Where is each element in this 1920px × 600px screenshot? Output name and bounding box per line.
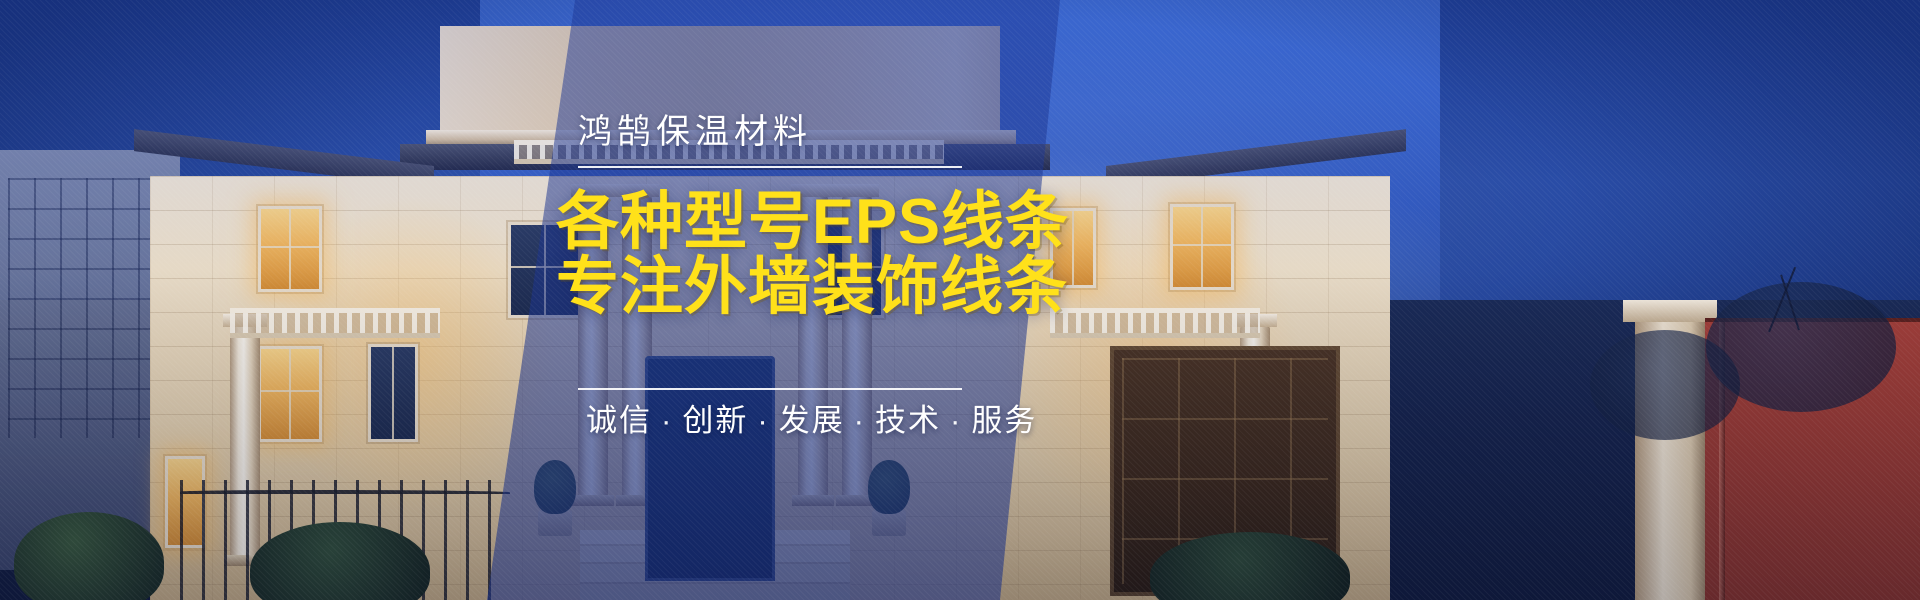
- tagline-item-5: 服务: [971, 403, 1037, 438]
- tagline-item-2: 创新: [682, 403, 748, 438]
- tagline-item-4: 技术: [875, 403, 941, 438]
- headline-line-1: 各种型号EPS线条: [556, 190, 1069, 256]
- divider-top: [578, 166, 962, 168]
- tagline-separator: ·: [757, 403, 769, 438]
- tagline-separator: ·: [854, 403, 866, 438]
- tagline-item-3: 发展: [779, 403, 845, 438]
- tagline-separator: ·: [661, 403, 673, 438]
- tagline-separator: ·: [950, 403, 962, 438]
- hero-banner: 鸿鹄保温材料 各种型号EPS线条 专注外墙装饰线条 诚信·创新·发展·技术·服务: [0, 0, 1920, 600]
- tagline-item-1: 诚信: [586, 403, 652, 438]
- headline-line-2: 专注外墙装饰线条: [556, 255, 1068, 321]
- divider-bottom: [578, 388, 962, 390]
- brand-eyebrow: 鸿鹄保温材料: [578, 104, 812, 153]
- banner-content: 鸿鹄保温材料 各种型号EPS线条 专注外墙装饰线条 诚信·创新·发展·技术·服务: [0, 0, 1920, 600]
- tagline: 诚信·创新·发展·技术·服务: [586, 395, 1037, 440]
